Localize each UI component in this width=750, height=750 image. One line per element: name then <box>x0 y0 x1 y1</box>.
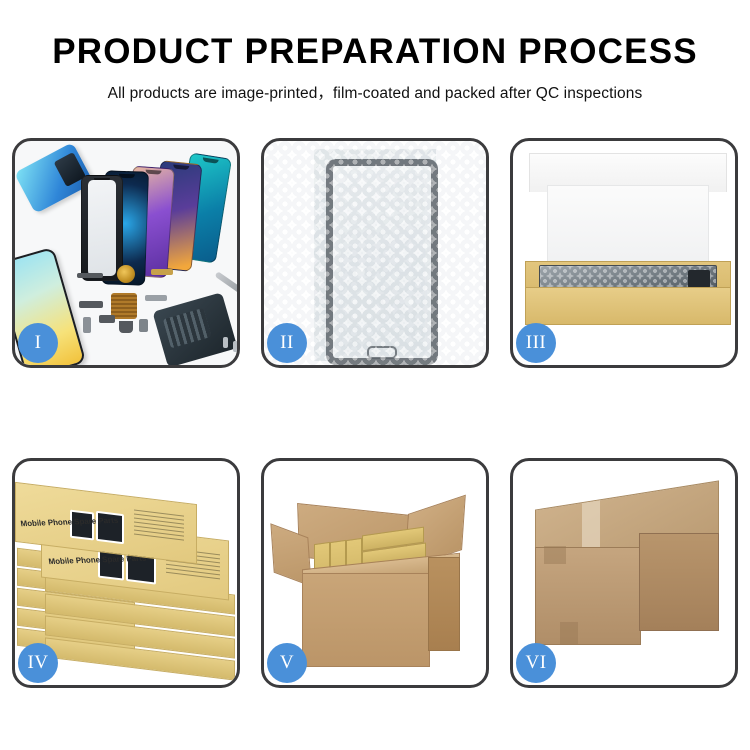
panel-step-4: Mobile Phone Spare Parts Mobile Phone Sp… <box>12 458 240 688</box>
part-sim-tray-icon <box>83 317 91 333</box>
carton-front-face <box>302 573 430 667</box>
carton-tab <box>560 622 578 644</box>
kraft-box-front-icon <box>525 287 731 325</box>
step-badge-4: IV <box>18 643 58 683</box>
panel-step-2: II <box>261 138 489 368</box>
step-badge-2: II <box>267 323 307 363</box>
step-badge-6: VI <box>516 643 556 683</box>
step-badge-5: V <box>267 643 307 683</box>
step-badge-1: I <box>18 323 58 363</box>
page-title: PRODUCT PREPARATION PROCESS <box>0 34 750 71</box>
carton-front-face <box>535 547 641 645</box>
part-mainboard-icon <box>152 292 237 365</box>
screw-icon <box>233 341 237 352</box>
part-chip-grid-icon <box>111 293 137 319</box>
panel-step-3: III <box>510 138 738 368</box>
part-bracket-icon <box>79 301 103 308</box>
part-antenna-icon <box>145 295 167 301</box>
part-flex-cable-icon <box>151 269 173 275</box>
header: PRODUCT PREPARATION PROCESS All products… <box>0 0 750 103</box>
part-coil-icon <box>117 265 135 283</box>
process-grid: I II III <box>12 138 738 688</box>
carton-tab <box>544 546 566 564</box>
part-camera-icon <box>119 321 133 333</box>
carton-right-face <box>639 533 719 631</box>
panel-step-1: I <box>12 138 240 368</box>
box-label-lines <box>134 509 184 543</box>
carton-side-face <box>428 557 460 651</box>
home-button-icon <box>367 346 397 359</box>
panel-step-6: VI <box>510 458 738 688</box>
step-badge-3: III <box>516 323 556 363</box>
page-subtitle: All products are image-printed，film-coat… <box>0 81 750 103</box>
screw-icon <box>223 337 228 348</box>
part-speaker-icon <box>77 273 103 278</box>
panel-step-5: V <box>261 458 489 688</box>
screen-assembly-icon <box>326 159 438 365</box>
part-button-icon <box>99 315 115 323</box>
infographic-page: PRODUCT PREPARATION PROCESS All products… <box>0 0 750 750</box>
phone-fan-group <box>87 153 237 271</box>
part-vibrator-icon <box>139 319 148 332</box>
foam-padding-icon <box>547 185 709 267</box>
spare-parts-group <box>73 259 237 365</box>
